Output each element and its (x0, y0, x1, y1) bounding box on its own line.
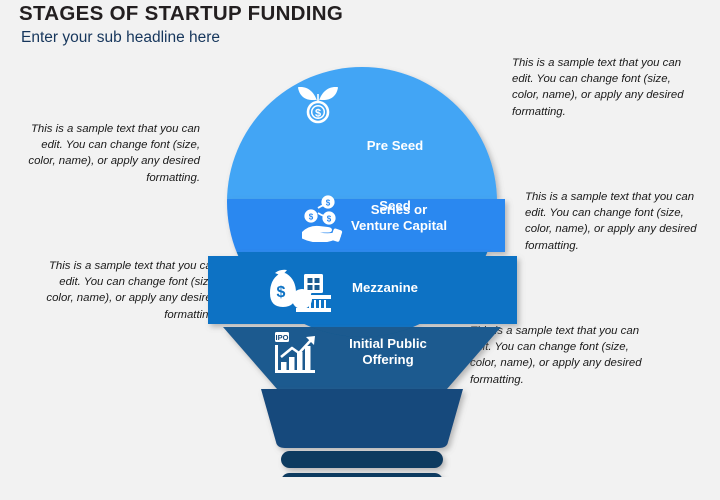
page-subtitle: Enter your sub headline here (21, 29, 220, 47)
caption-middle-right: This is a sample text that you can edit.… (525, 189, 705, 254)
lightbulb-diagram: Pre Seed Seed Series or Venture Capital … (195, 52, 530, 477)
stage-segment-series-venture-capital[interactable] (195, 252, 530, 327)
caption-middle-left: This is a sample text that you can edit.… (42, 258, 218, 323)
bulb-screw-base (281, 451, 443, 477)
stage-segment-initial-public-offering[interactable] (261, 389, 463, 448)
page-title: STAGES OF STARTUP FUNDING (19, 2, 343, 26)
stage-segment-seed[interactable] (227, 199, 505, 252)
slide-canvas: STAGES OF STARTUP FUNDING Enter your sub… (0, 0, 720, 500)
caption-top-right: This is a sample text that you can edit.… (512, 55, 694, 120)
stage-segment-mezzanine[interactable] (223, 327, 501, 389)
stage-segment-pre-seed[interactable] (195, 52, 530, 199)
caption-top-left: This is a sample text that you can edit.… (22, 121, 200, 186)
